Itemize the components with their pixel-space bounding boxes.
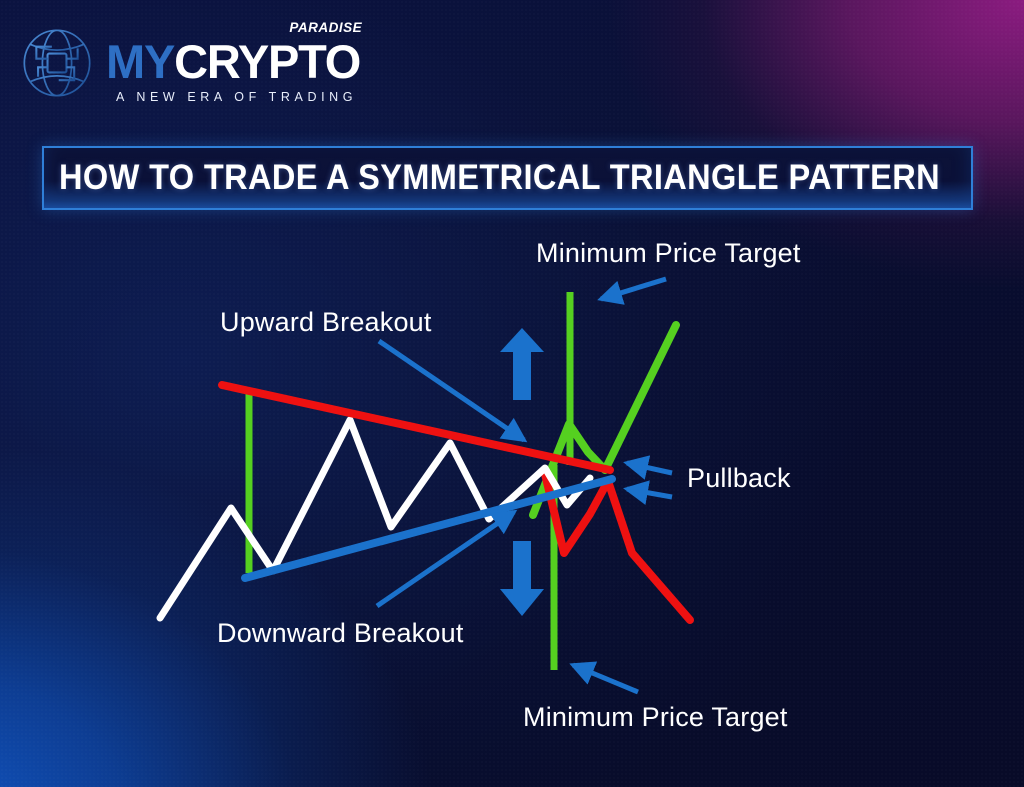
label-upward-breakout: Upward Breakout [220,307,432,338]
bearish-target-arrow [500,541,544,616]
label-downward-breakout: Downward Breakout [217,618,464,649]
arrow-pullback-lower [627,489,672,497]
arrow-minimum-price-target-top [601,279,666,299]
label-pullback: Pullback [687,463,791,494]
label-minimum-price-target-top: Minimum Price Target [536,238,801,269]
arrow-pullback-upper [627,463,672,473]
upper-trendline-resistance [222,385,610,470]
label-minimum-price-target-bottom: Minimum Price Target [523,702,788,733]
arrow-minimum-price-target-bottom [573,665,638,692]
bullish-target-arrow [500,328,544,400]
symmetrical-triangle-chart [0,0,1024,787]
infographic-canvas: MY CRYPTO PARADISE A NEW ERA OF TRADING … [0,0,1024,787]
